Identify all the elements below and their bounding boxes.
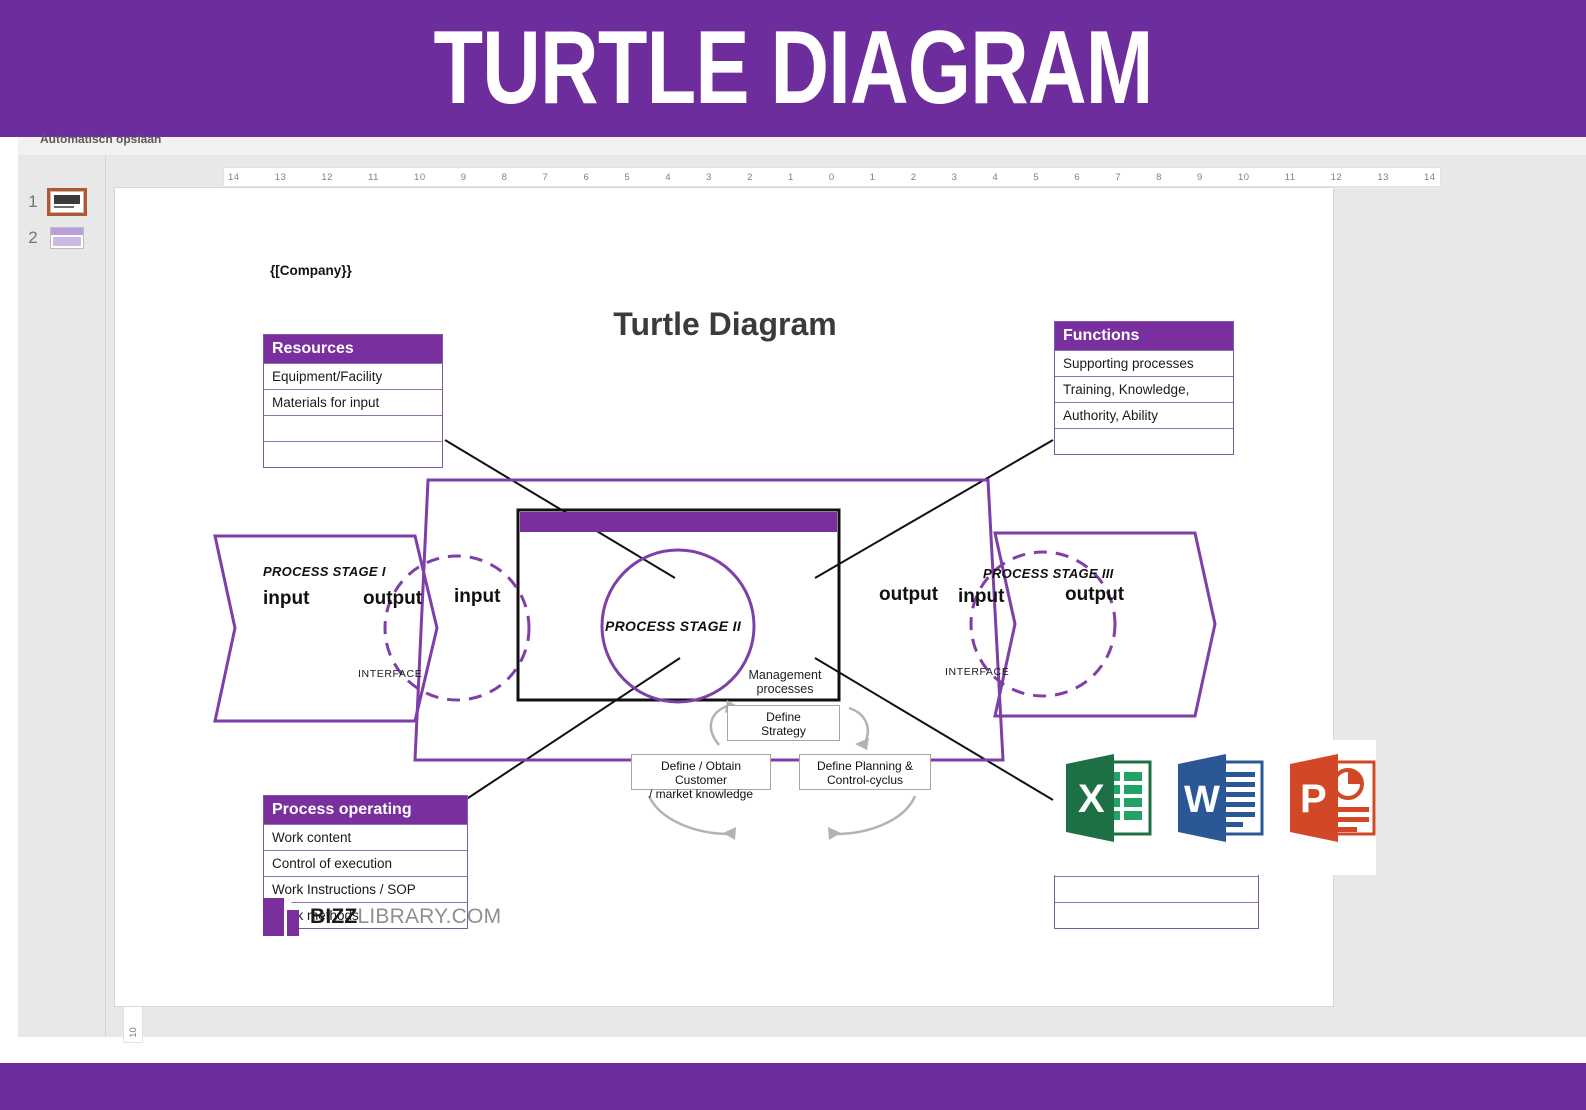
thumb-title-block [51,228,83,235]
table-row[interactable]: Training, Knowledge, [1055,376,1233,402]
slide-thumbnail-image[interactable] [50,227,84,249]
table-row[interactable]: Materials for input [264,389,442,415]
ruler-tick: 14 [1424,172,1436,183]
ruler-tick: 11 [368,172,379,183]
ruler-tick: 8 [1156,172,1162,183]
thumb-title-block [54,195,80,204]
ruler-tick: 2 [747,172,753,183]
ruler-tick: 14 [228,172,240,183]
footer-gap [0,1055,1586,1063]
connector-lines [445,440,1053,800]
box-line2: / market knowledge [635,787,767,801]
right-interface-label: INTERFACE [945,666,1009,678]
ruler-tick: 1 [870,172,876,183]
ruler-tick: 6 [583,172,589,183]
process-stage-3-chevron [995,533,1215,716]
ruler-tick: 1 [788,172,794,183]
table-row[interactable]: Supporting processes [1055,350,1233,376]
slide-thumbnail-panel[interactable]: 1 2 [18,155,106,1037]
process-stage-3-input: input [958,586,1004,608]
logo-bold-part: BIZZ [310,905,357,928]
thumb-text-block [53,237,81,246]
ruler-tick: 4 [665,172,671,183]
ruler-tick: 10 [414,172,426,183]
box-line1: Define Planning & [803,759,927,773]
ruler-tick: 5 [624,172,630,183]
table-row[interactable]: Equipment/Facility [264,363,442,389]
table-row[interactable] [1055,428,1233,454]
ruler-tick: 8 [502,172,508,183]
ruler-tick: 3 [706,172,712,183]
process-stage-1-input: input [263,588,309,610]
functions-table[interactable]: Functions Supporting processes Training,… [1054,321,1234,455]
center-output-label: output [879,584,938,606]
logo-wordmark: BIZZLIBRARY.COM [310,905,501,929]
table-header: Functions [1055,322,1233,350]
process-stage-1-output: output [363,588,422,610]
ruler-tick: 13 [275,172,287,183]
management-processes-title: Management processes [705,668,865,696]
svg-text:P: P [1300,777,1327,821]
management-box-define-planning[interactable]: Define Planning & Control-cyclus [799,754,931,790]
thumb-text-block [54,206,74,208]
ruler-tick: 9 [1197,172,1203,183]
slide-canvas[interactable]: {[Company}} Turtle Diagram [114,187,1334,1007]
powerpoint-window: Automatisch opslaan 1 2 14 [0,137,1586,1055]
banner-title: TURTLE DIAGRAM [174,4,1411,132]
process-stage-3-output: output [1065,584,1124,606]
table-row[interactable]: Control of execution [264,850,467,876]
svg-text:W: W [1184,779,1220,821]
office-icons-group: X W P [1064,752,1376,844]
table-header: Resources [264,335,442,363]
ruler-tick: 5 [1033,172,1039,183]
logo-light-part: LIBRARY.COM [357,905,501,928]
ruler-tick: 11 [1285,172,1296,183]
page-footer-bar [0,1063,1586,1110]
ruler-tick: 7 [1115,172,1121,183]
table-row[interactable] [264,415,442,441]
slide-number: 1 [26,192,40,212]
box-line1: Define / Obtain Customer [635,759,767,787]
ruler-tick: 10 [1238,172,1250,183]
slide-number: 2 [26,228,40,248]
ruler-tick: 9 [461,172,467,183]
management-box-define-strategy[interactable]: Define Strategy [727,705,840,741]
document-icon [263,898,299,936]
resources-table[interactable]: Resources Equipment/Facility Materials f… [263,334,443,468]
table-row[interactable] [264,441,442,467]
excel-icon[interactable]: X [1064,752,1152,844]
svg-text:X: X [1078,777,1105,821]
powerpoint-icon[interactable]: P [1288,752,1376,844]
center-box-header-bar [520,512,837,532]
powerpoint-title-bar: Automatisch opslaan [18,137,1586,155]
table-row[interactable]: Work content [264,824,467,850]
page-banner: TURTLE DIAGRAM [0,0,1586,137]
center-input-label: input [454,586,500,608]
ruler-tick: 0 [829,172,835,183]
process-stage-1-name: PROCESS STAGE I [263,564,386,579]
ruler-tick: 10 [127,1027,138,1038]
box-line2: Control-cyclus [803,773,927,787]
word-icon[interactable]: W [1176,752,1264,844]
slide-thumbnail-1[interactable]: 1 [26,191,84,213]
ruler-tick: 4 [993,172,999,183]
ruler-tick: 7 [543,172,549,183]
bizzlibrary-logo: BIZZLIBRARY.COM [263,898,501,936]
management-box-define-customer[interactable]: Define / Obtain Customer / market knowle… [631,754,771,790]
horizontal-ruler[interactable]: 14 13 12 11 10 9 8 7 6 5 4 3 2 1 0 1 2 3… [223,167,1441,187]
left-interface-label: INTERFACE [358,668,422,680]
table-row[interactable]: Authority, Ability [1055,402,1233,428]
process-stage-3-name: PROCESS STAGE III [983,566,1114,581]
autosave-label: Automatisch opslaan [40,132,161,146]
management-title-line2: processes [705,682,865,696]
ruler-tick: 12 [1331,172,1343,183]
ruler-tick: 2 [911,172,917,183]
process-stage-2-name: PROCESS STAGE II [605,618,741,634]
management-title-line1: Management [705,668,865,682]
ruler-tick: 6 [1074,172,1080,183]
slide-thumbnail-image[interactable] [50,191,84,213]
slide-thumbnail-2[interactable]: 2 [26,227,84,249]
ruler-tick: 3 [952,172,958,183]
ruler-tick: 12 [321,172,333,183]
box-line1: Define [731,710,836,724]
ruler-tick: 13 [1377,172,1389,183]
table-row[interactable] [1055,876,1258,902]
box-line2: Strategy [731,724,836,738]
table-row[interactable] [1055,902,1258,928]
table-header: Process operating [264,796,467,824]
